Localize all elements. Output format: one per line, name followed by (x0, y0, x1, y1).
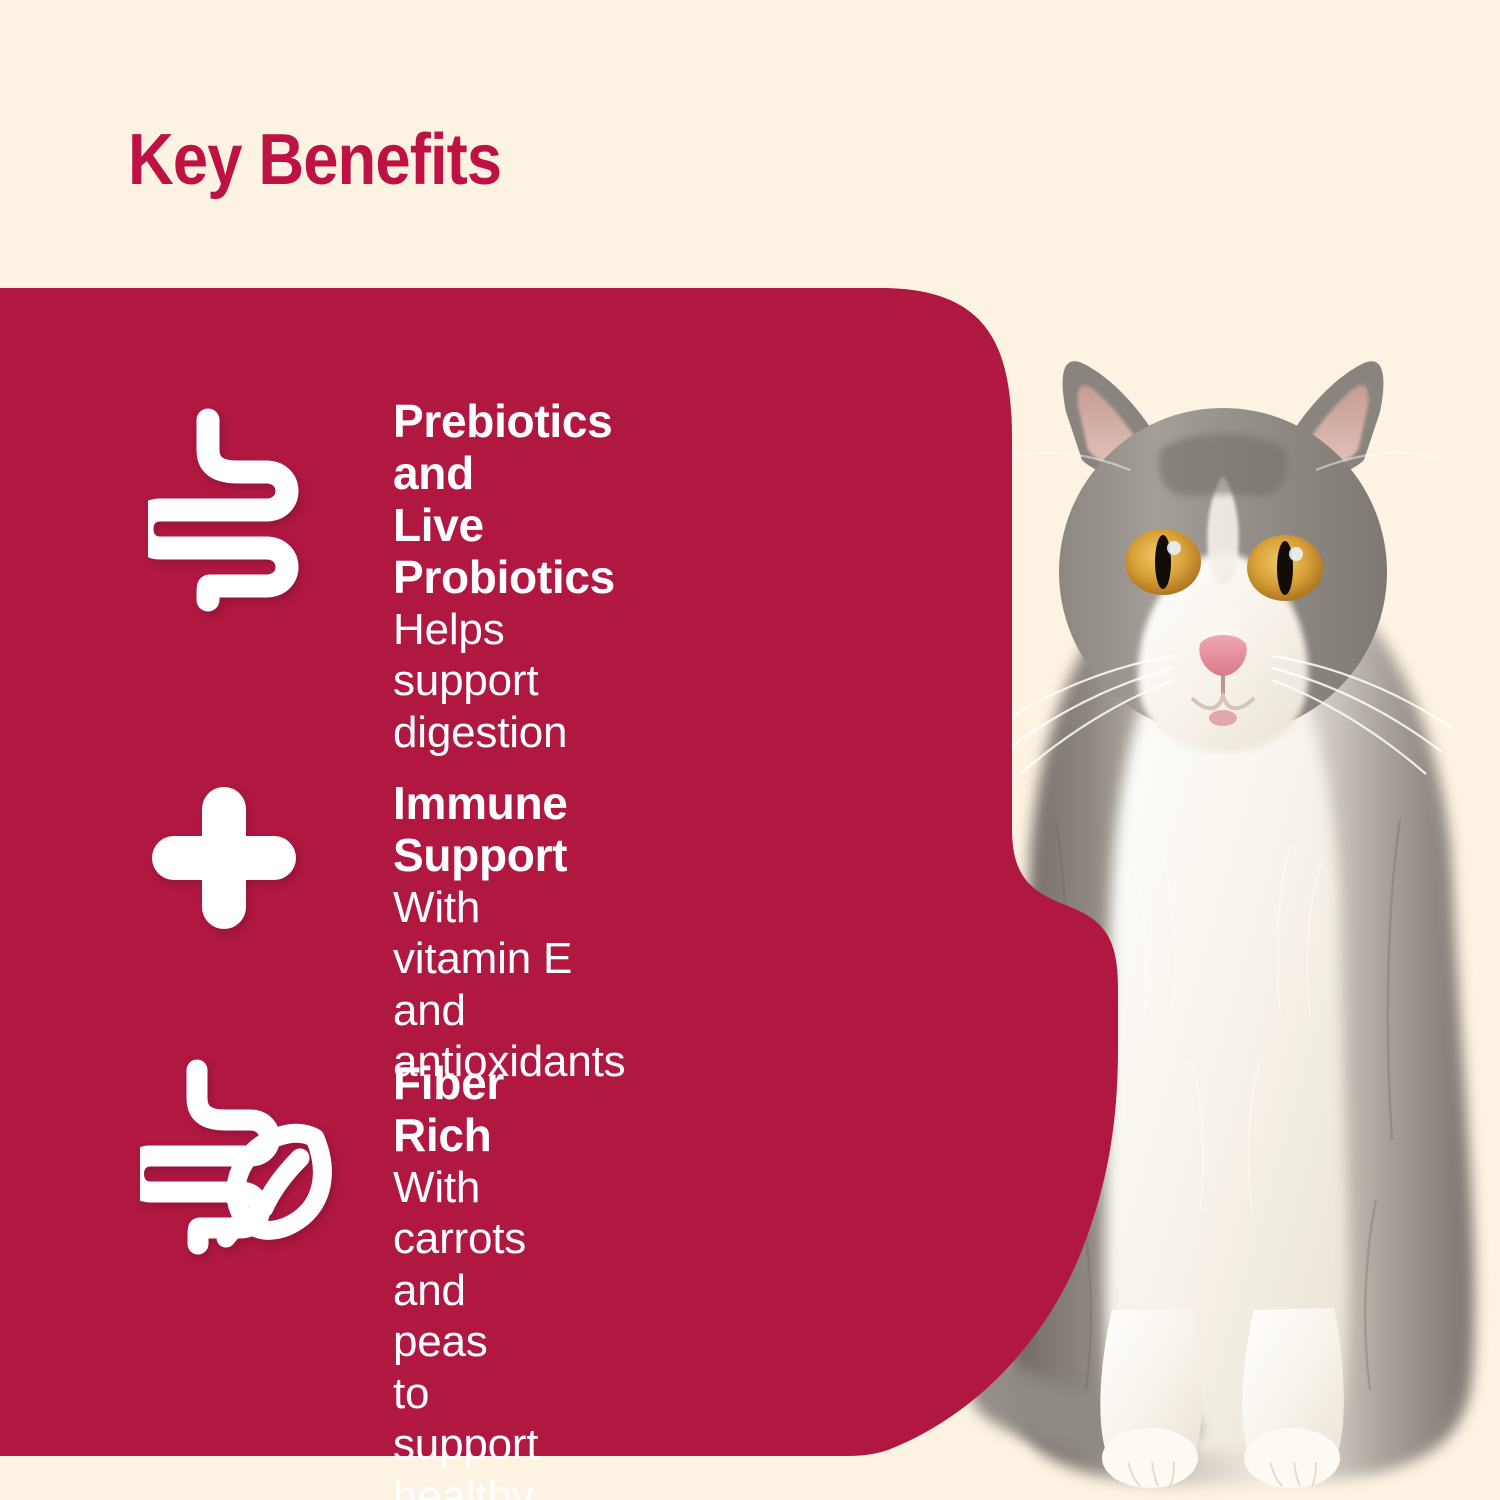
cat-photo (960, 300, 1500, 1500)
key-benefits-graphic: Key Benefits Prebiotics and Live Probiot… (0, 0, 1500, 1500)
benefit-description: Helps support digestion (393, 604, 615, 758)
benefit-title: Prebiotics and Live Probiotics (393, 396, 615, 604)
benefit-title: Fiber Rich (393, 1058, 567, 1162)
benefit-text: Fiber Rich With carrots and peas to supp… (393, 1058, 567, 1500)
benefits-list: Prebiotics and Live Probiotics Helps sup… (0, 288, 1010, 1456)
intestine-leaf-icon (140, 1058, 360, 1270)
benefit-text: Immune Support With vitamin E and antiox… (393, 778, 625, 1088)
benefit-title: Immune Support (393, 778, 625, 882)
page-title: Key Benefits (128, 124, 501, 196)
intestine-icon (148, 406, 338, 614)
benefit-description: With carrots and peas to support healthy… (393, 1162, 567, 1500)
plus-icon (148, 783, 300, 933)
benefit-text: Prebiotics and Live Probiotics Helps sup… (393, 396, 615, 758)
